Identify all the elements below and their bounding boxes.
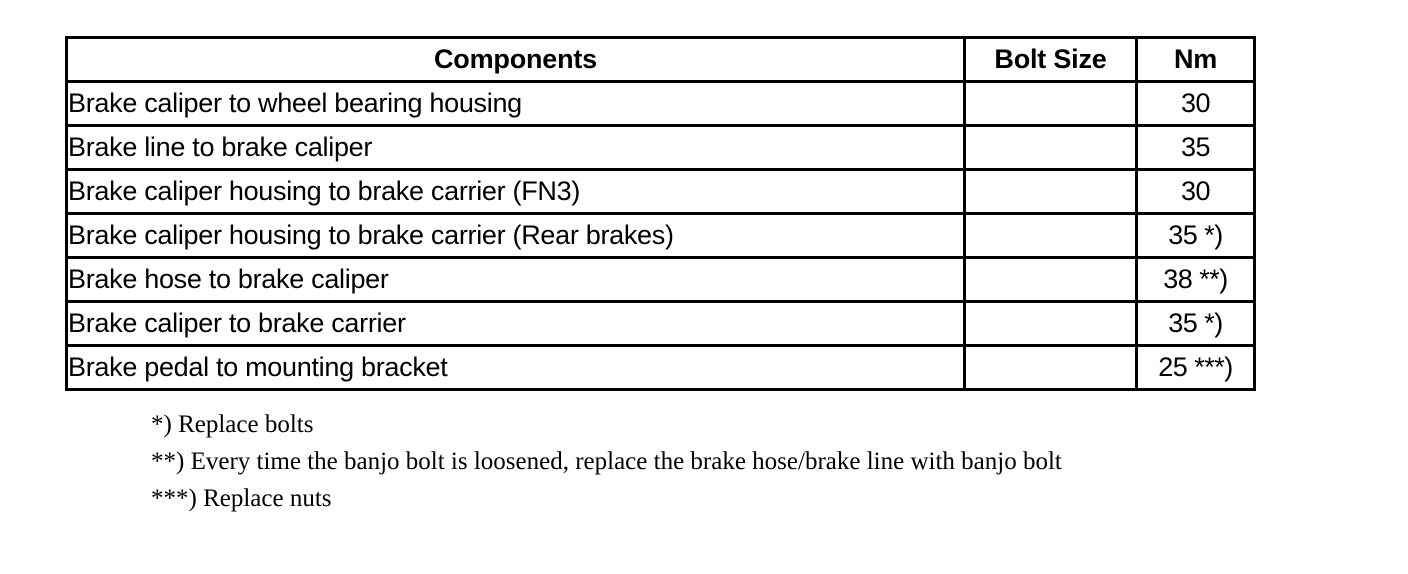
column-header-nm: Nm (1137, 38, 1255, 82)
cell-nm: 30 (1137, 170, 1255, 214)
footnote-double-asterisk: **) Every time the banjo bolt is loosene… (151, 443, 1226, 480)
table-row: Brake line to brake caliper 35 (67, 126, 1255, 170)
cell-component: Brake caliper housing to brake carrier (… (67, 214, 965, 258)
cell-component: Brake line to brake caliper (67, 126, 965, 170)
cell-bolt-size (965, 170, 1137, 214)
cell-nm: 30 (1137, 82, 1255, 126)
cell-bolt-size (965, 82, 1137, 126)
column-header-components: Components (67, 38, 965, 82)
cell-bolt-size (965, 302, 1137, 346)
table-header: Components Bolt Size Nm (67, 38, 1255, 82)
footnote-triple-asterisk: ***) Replace nuts (151, 480, 1226, 517)
cell-component: Brake caliper to wheel bearing housing (67, 82, 965, 126)
cell-bolt-size (965, 214, 1137, 258)
table-body: Brake caliper to wheel bearing housing 3… (67, 82, 1255, 390)
cell-bolt-size (965, 346, 1137, 390)
cell-nm: 38 **) (1137, 258, 1255, 302)
cell-nm: 35 (1137, 126, 1255, 170)
column-header-bolt-size: Bolt Size (965, 38, 1137, 82)
cell-component: Brake hose to brake caliper (67, 258, 965, 302)
table-row: Brake hose to brake caliper 38 **) (67, 258, 1255, 302)
cell-nm: 35 *) (1137, 302, 1255, 346)
cell-bolt-size (965, 126, 1137, 170)
cell-nm: 35 *) (1137, 214, 1255, 258)
footnotes-block: *) Replace bolts **) Every time the banj… (151, 406, 1226, 517)
cell-nm: 25 ***) (1137, 346, 1255, 390)
torque-specification-table: Components Bolt Size Nm Brake caliper to… (65, 36, 1256, 391)
cell-component: Brake caliper housing to brake carrier (… (67, 170, 965, 214)
cell-bolt-size (965, 258, 1137, 302)
footnote-single-asterisk: *) Replace bolts (151, 406, 1226, 443)
cell-component: Brake pedal to mounting bracket (67, 346, 965, 390)
table-row: Brake caliper to brake carrier 35 *) (67, 302, 1255, 346)
table-row: Brake caliper to wheel bearing housing 3… (67, 82, 1255, 126)
cell-component: Brake caliper to brake carrier (67, 302, 965, 346)
table-row: Brake caliper housing to brake carrier (… (67, 170, 1255, 214)
table-row: Brake pedal to mounting bracket 25 ***) (67, 346, 1255, 390)
table-header-row: Components Bolt Size Nm (67, 38, 1255, 82)
table-row: Brake caliper housing to brake carrier (… (67, 214, 1255, 258)
